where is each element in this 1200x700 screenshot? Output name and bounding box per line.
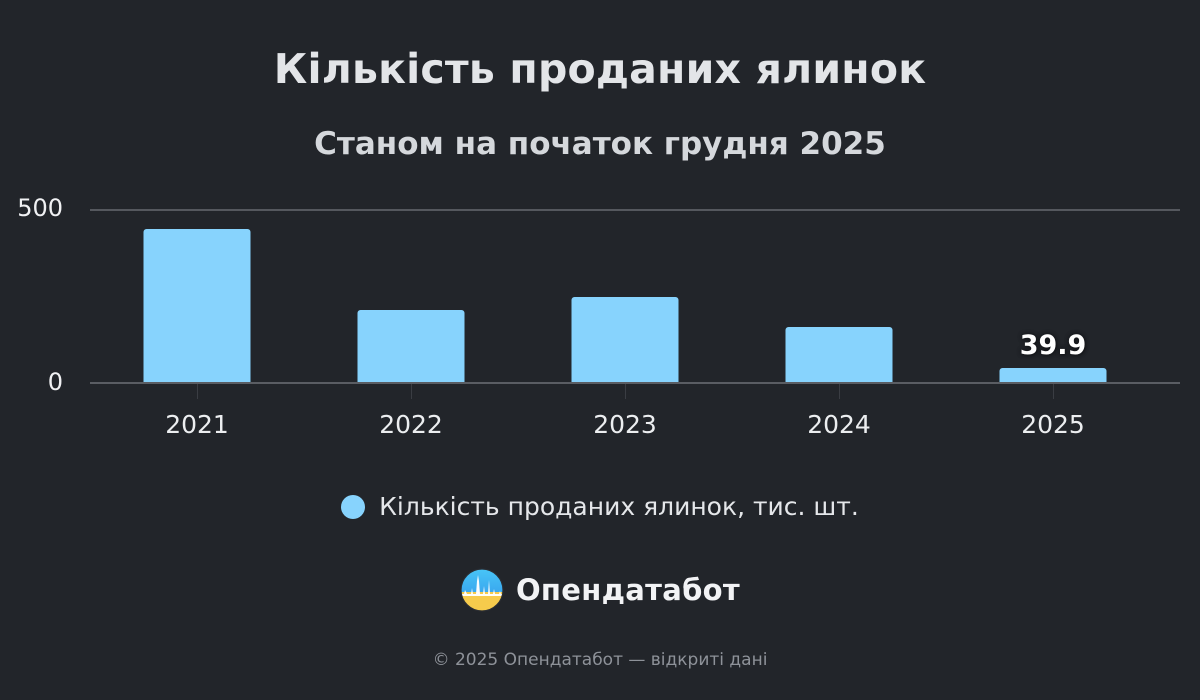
bar-slot-2023: [518, 209, 732, 382]
x-axis-label-2022: 2022: [304, 410, 518, 439]
x-axis-labels: 2021 2022 2023 2024 2025: [90, 410, 1180, 450]
chart-container: Кількість проданих ялинок Станом на поча…: [0, 0, 1200, 700]
footer-copyright: © 2025 Опендатабот — відкриті дані: [0, 650, 1200, 670]
x-axis-label-2023: 2023: [518, 410, 732, 439]
bar-2025[interactable]: 39.9: [1000, 368, 1107, 382]
brand-block: Опендатабот: [0, 568, 1200, 612]
bar-slot-2025: 39.9: [946, 209, 1160, 382]
x-tick-mark: [625, 384, 626, 399]
bar-slot-2024: [732, 209, 946, 382]
x-tick-mark: [411, 384, 412, 399]
bar-value-label-2025: 39.9: [1020, 330, 1087, 361]
chart-subtitle: Станом на початок грудня 2025: [0, 126, 1200, 162]
y-axis-tick-500: 500: [17, 194, 63, 222]
x-axis-ticks: [90, 384, 1180, 404]
plot-area: 500 0: [90, 209, 1180, 384]
y-axis-tick-0: 0: [48, 368, 63, 396]
bar-slot-2022: [304, 209, 518, 382]
chart-title: Кількість проданих ялинок: [0, 45, 1200, 93]
bar-2023[interactable]: [572, 297, 679, 382]
x-tick-mark: [839, 384, 840, 399]
x-axis-label-2025: 2025: [946, 410, 1160, 439]
x-tick-mark: [1053, 384, 1054, 399]
legend-item-label: Кількість проданих ялинок, тис. шт.: [379, 492, 859, 521]
chart-legend: Кількість проданих ялинок, тис. шт.: [0, 492, 1200, 521]
x-axis-label-2021: 2021: [90, 410, 304, 439]
bar-2024[interactable]: [786, 327, 893, 382]
opendatabot-logo-icon: [460, 568, 504, 612]
bar-2022[interactable]: [358, 310, 465, 382]
circle-marker-icon: [341, 495, 365, 519]
bar-slot-2021: [90, 209, 304, 382]
x-tick-mark: [197, 384, 198, 399]
x-axis-label-2024: 2024: [732, 410, 946, 439]
brand-name: Опендатабот: [516, 573, 740, 607]
bar-2021[interactable]: [144, 229, 251, 382]
bar-group: 39.9: [90, 209, 1180, 384]
